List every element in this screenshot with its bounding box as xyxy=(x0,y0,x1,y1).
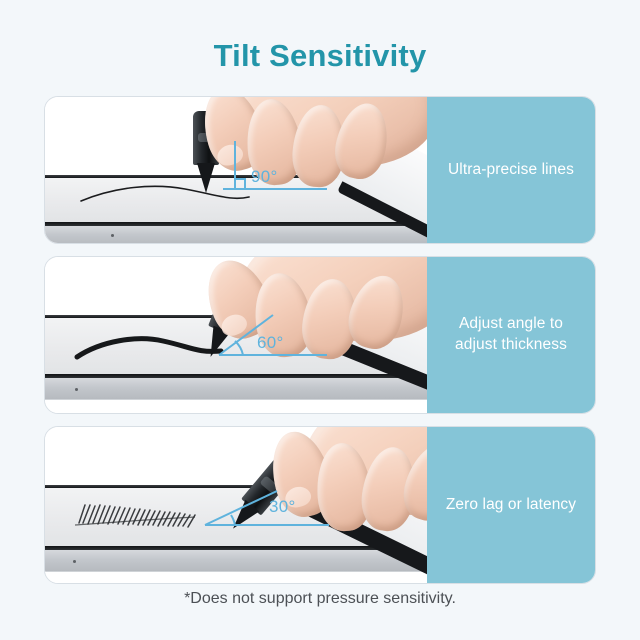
caption-text: Zero lag or latency xyxy=(446,495,576,516)
caption-panel-ultra-precise-lines: Ultra-precise lines xyxy=(427,97,595,243)
angle-label-90: 90° xyxy=(251,167,278,187)
caption-text: Adjust angle to adjust thickness xyxy=(455,314,567,356)
tablet-photo-60: 60° xyxy=(45,257,427,413)
feature-card-zero-lag: 30° Zero lag or latency xyxy=(44,426,596,584)
caption-line-2: adjust thickness xyxy=(455,335,567,356)
footnote-text: *Does not support pressure sensitivity. xyxy=(0,590,640,608)
caption-panel-zero-lag: Zero lag or latency xyxy=(427,427,595,583)
caption-panel-adjust-angle: Adjust angle to adjust thickness xyxy=(427,257,595,413)
feature-card-adjust-angle: 60° Adjust angle to adjust thickness xyxy=(44,256,596,414)
angle-label-30: 30° xyxy=(269,497,296,517)
caption-line-1: Adjust angle to xyxy=(455,314,567,335)
tablet-photo-30: 30° xyxy=(45,427,427,583)
caption-text: Ultra-precise lines xyxy=(448,160,574,181)
angle-marker-90 xyxy=(223,141,333,203)
feature-card-ultra-precise-lines: 90° Ultra-precise lines xyxy=(44,96,596,244)
page-title: Tilt Sensitivity xyxy=(0,38,640,74)
tablet-photo-90: 90° xyxy=(45,97,427,243)
angle-label-60: 60° xyxy=(257,333,284,353)
infographic-page: Tilt Sensitivity xyxy=(0,0,640,640)
